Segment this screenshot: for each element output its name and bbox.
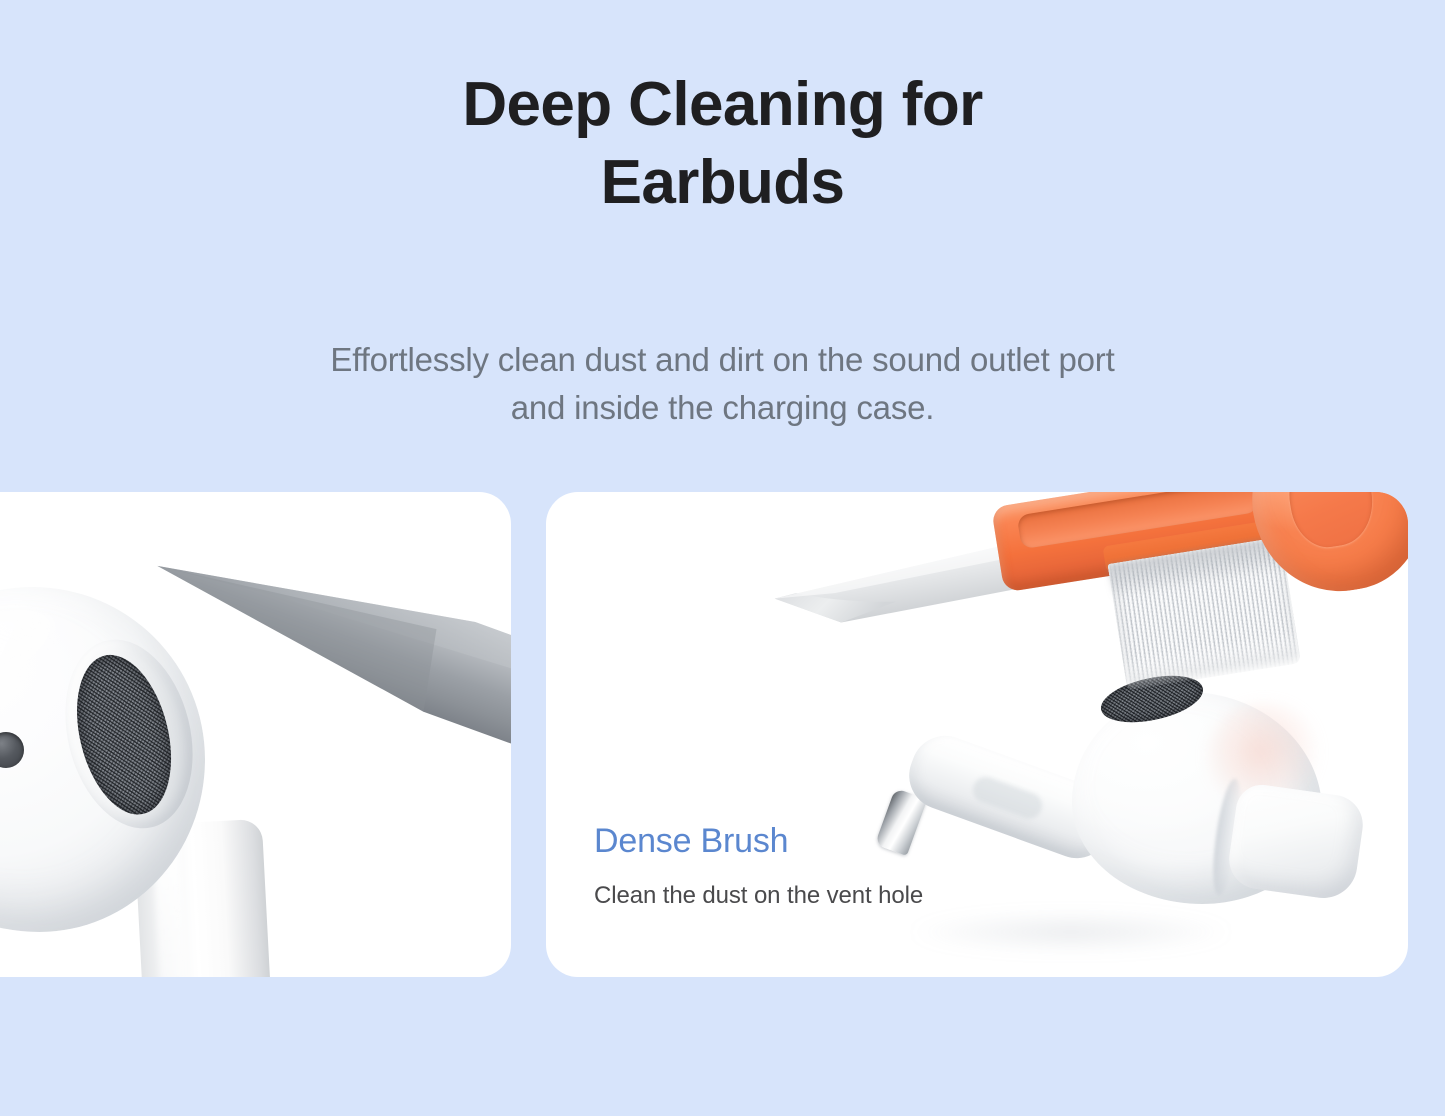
- dense-brush-illustration: Dense Brush Clean the dust on the vent h…: [546, 492, 1408, 977]
- card-caption: Clean the dust on the vent hole: [594, 880, 923, 912]
- page-title: Deep Cleaning for Earbuds: [403, 66, 1043, 222]
- earbud-silicone-tip: [1225, 782, 1366, 903]
- dense-brush-text-block: Dense Brush Clean the dust on the vent h…: [594, 820, 923, 912]
- sound-outlet-port-card: [0, 492, 511, 977]
- subtitle-block: Effortlessly clean dust and dirt on the …: [0, 336, 1445, 432]
- header: Deep Cleaning for Earbuds: [0, 0, 1445, 222]
- card-heading: Dense Brush: [594, 820, 923, 862]
- dense-brush-card: Dense Brush Clean the dust on the vent h…: [546, 492, 1408, 977]
- page-subtitle: Effortlessly clean dust and dirt on the …: [328, 336, 1118, 432]
- product-feature-page: Deep Cleaning for Earbuds Effortlessly c…: [0, 0, 1445, 1116]
- earbud-cleaning-illustration: [0, 492, 511, 977]
- chisel-blade-tool: [771, 537, 1030, 638]
